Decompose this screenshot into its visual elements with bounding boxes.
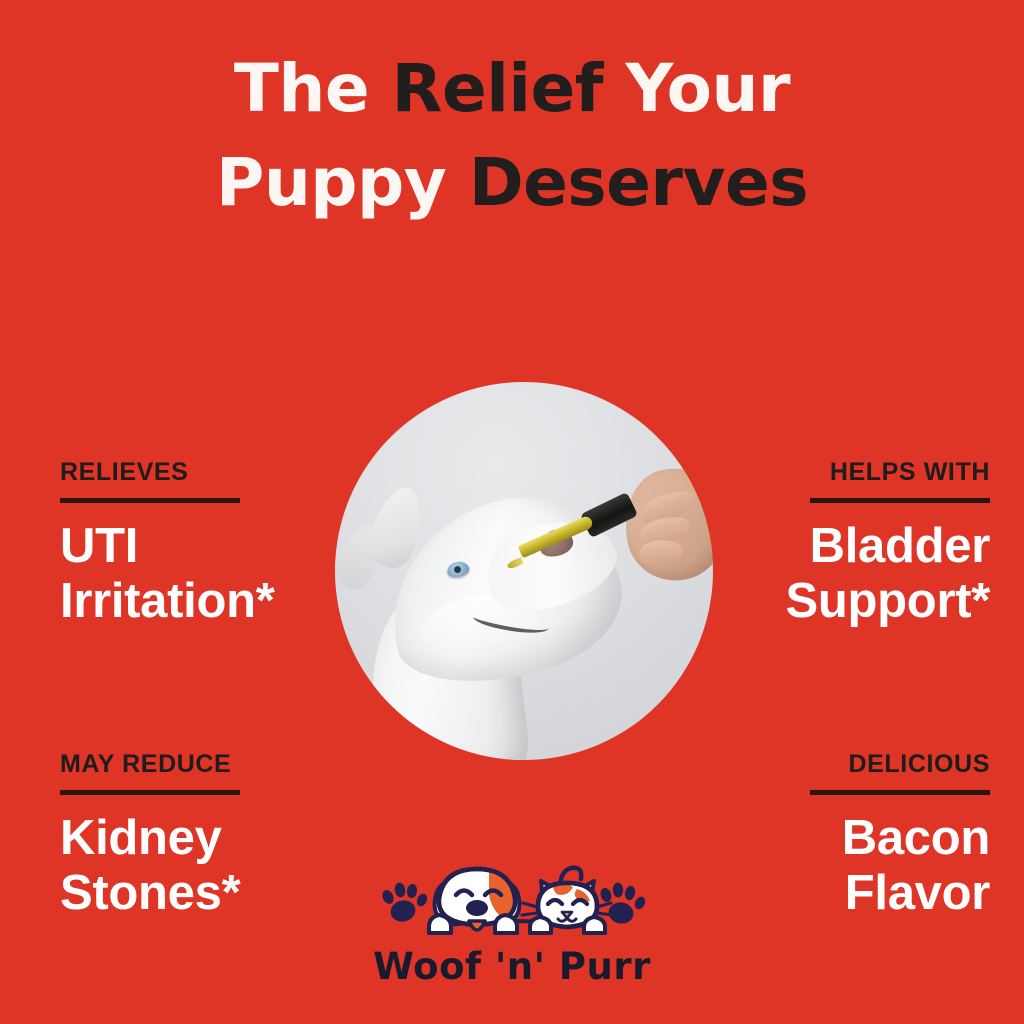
- feature-value-line: UTI: [60, 519, 275, 574]
- puppy-dropper-scene: [335, 382, 713, 760]
- infographic-canvas: The Relief Your Puppy Deserves RELIEVES: [0, 0, 1024, 1024]
- headline-line-2: Puppy Deserves: [0, 136, 1024, 230]
- feature-kicker: RELIEVES: [60, 460, 275, 485]
- feature-value-line: Support*: [786, 574, 990, 629]
- feature-value: Bladder Support*: [786, 519, 990, 629]
- feature-divider: [810, 498, 990, 503]
- headline-word-relief: Relief: [392, 50, 626, 127]
- feature-value-line: Bladder: [786, 519, 990, 574]
- feature-divider: [60, 790, 240, 795]
- feature-value-line: Irritation*: [60, 574, 275, 629]
- headline-line-1: The Relief Your: [0, 42, 1024, 136]
- dog-illustration: [429, 869, 519, 933]
- feature-kicker: MAY REDUCE: [60, 752, 240, 777]
- feature-value: UTI Irritation*: [60, 519, 275, 629]
- dog-tongue: [469, 921, 485, 930]
- feature-value-line: Bacon: [810, 811, 990, 866]
- paw-print-icon: [380, 882, 429, 924]
- feature-relieves: RELIEVES UTI Irritation*: [60, 460, 275, 629]
- feature-divider: [60, 498, 240, 503]
- feature-delicious: DELICIOUS Bacon Flavor: [810, 752, 990, 921]
- headline-word-your: Your: [625, 50, 790, 127]
- feature-value-line: Flavor: [810, 866, 990, 921]
- page-title: The Relief Your Puppy Deserves: [0, 42, 1024, 229]
- feature-divider: [810, 790, 990, 795]
- feature-value: Kidney Stones*: [60, 811, 240, 921]
- dog-and-cat-logo-icon: [377, 855, 647, 947]
- feature-kicker: DELICIOUS: [810, 752, 990, 777]
- feature-helps-with: HELPS WITH Bladder Support*: [786, 460, 990, 629]
- headline-word-puppy: Puppy: [216, 144, 469, 221]
- brand-wordmark: Woof 'n' Purr: [362, 945, 662, 988]
- feature-value-line: Stones*: [60, 866, 240, 921]
- feature-value: Bacon Flavor: [810, 811, 990, 921]
- dog-nose-icon: [466, 900, 488, 916]
- headline-word-the: The: [234, 50, 392, 127]
- headline-word-deserves: Deserves: [469, 144, 808, 221]
- feature-may-reduce: MAY REDUCE Kidney Stones*: [60, 752, 240, 921]
- cat-illustration: [522, 868, 612, 933]
- brand-logo: Woof 'n' Purr: [362, 855, 662, 988]
- feature-value-line: Kidney: [60, 811, 240, 866]
- hero-product-photo: [335, 382, 713, 760]
- feature-kicker: HELPS WITH: [786, 460, 990, 485]
